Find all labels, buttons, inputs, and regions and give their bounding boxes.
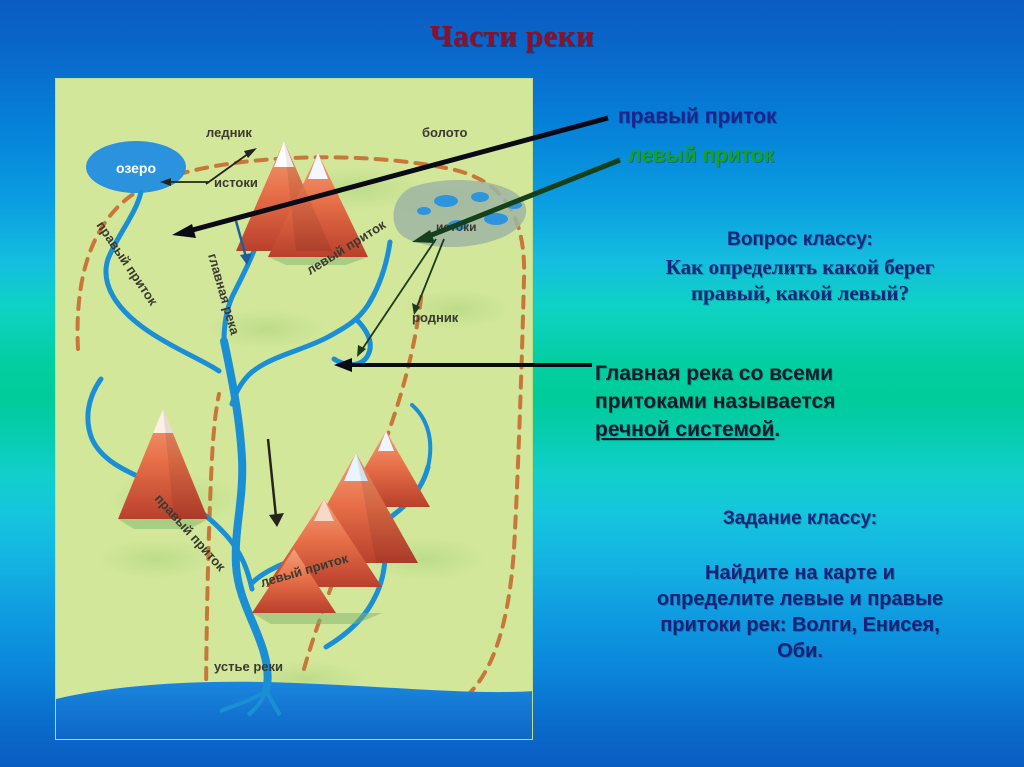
map-label-sources-left: истоки <box>214 175 258 190</box>
task-heading: Задание классу: <box>585 507 1015 530</box>
map-label-swamp: болото <box>422 125 468 140</box>
map-label-spring: родник <box>412 310 459 325</box>
callout-left-tributary: левый приток <box>628 143 774 169</box>
map-illustration: озеро истоки ледник болото истоки родник… <box>56 79 533 740</box>
task-line-1: Найдите на карте и <box>585 560 1015 586</box>
map-label-lake: озеро <box>116 160 156 176</box>
river-system-map: озеро истоки ледник болото истоки родник… <box>55 78 533 740</box>
page-title: Части реки <box>0 18 1024 54</box>
map-label-sources-right: истоки <box>436 220 476 234</box>
definition-line-2: притоками называется <box>595 388 1015 416</box>
question-line-1: Как определить какой берег <box>585 254 1015 280</box>
map-label-mouth: устье реки <box>214 659 283 674</box>
definition-line-1: Главная река со всеми <box>595 360 1015 388</box>
definition-period: . <box>774 418 780 441</box>
task-line-3: притоки рек: Волги, Енисея, <box>585 612 1015 638</box>
question-heading: Вопрос классу: <box>585 228 1015 251</box>
task-line-2: определите левые и правые <box>585 586 1015 612</box>
definition-block: Главная река со всеми притоками называет… <box>595 360 1015 444</box>
question-block: Вопрос классу: Как определить какой бере… <box>585 228 1015 307</box>
question-line-2: правый, какой левый? <box>585 280 1015 306</box>
task-block: Задание классу: Найдите на карте и опред… <box>585 507 1015 664</box>
definition-line-3: речной системой. <box>595 416 1015 444</box>
callout-right-tributary: правый приток <box>618 104 777 130</box>
map-label-glacier: ледник <box>206 125 252 140</box>
definition-term: речной системой <box>595 418 774 441</box>
task-line-4: Оби. <box>585 638 1015 664</box>
